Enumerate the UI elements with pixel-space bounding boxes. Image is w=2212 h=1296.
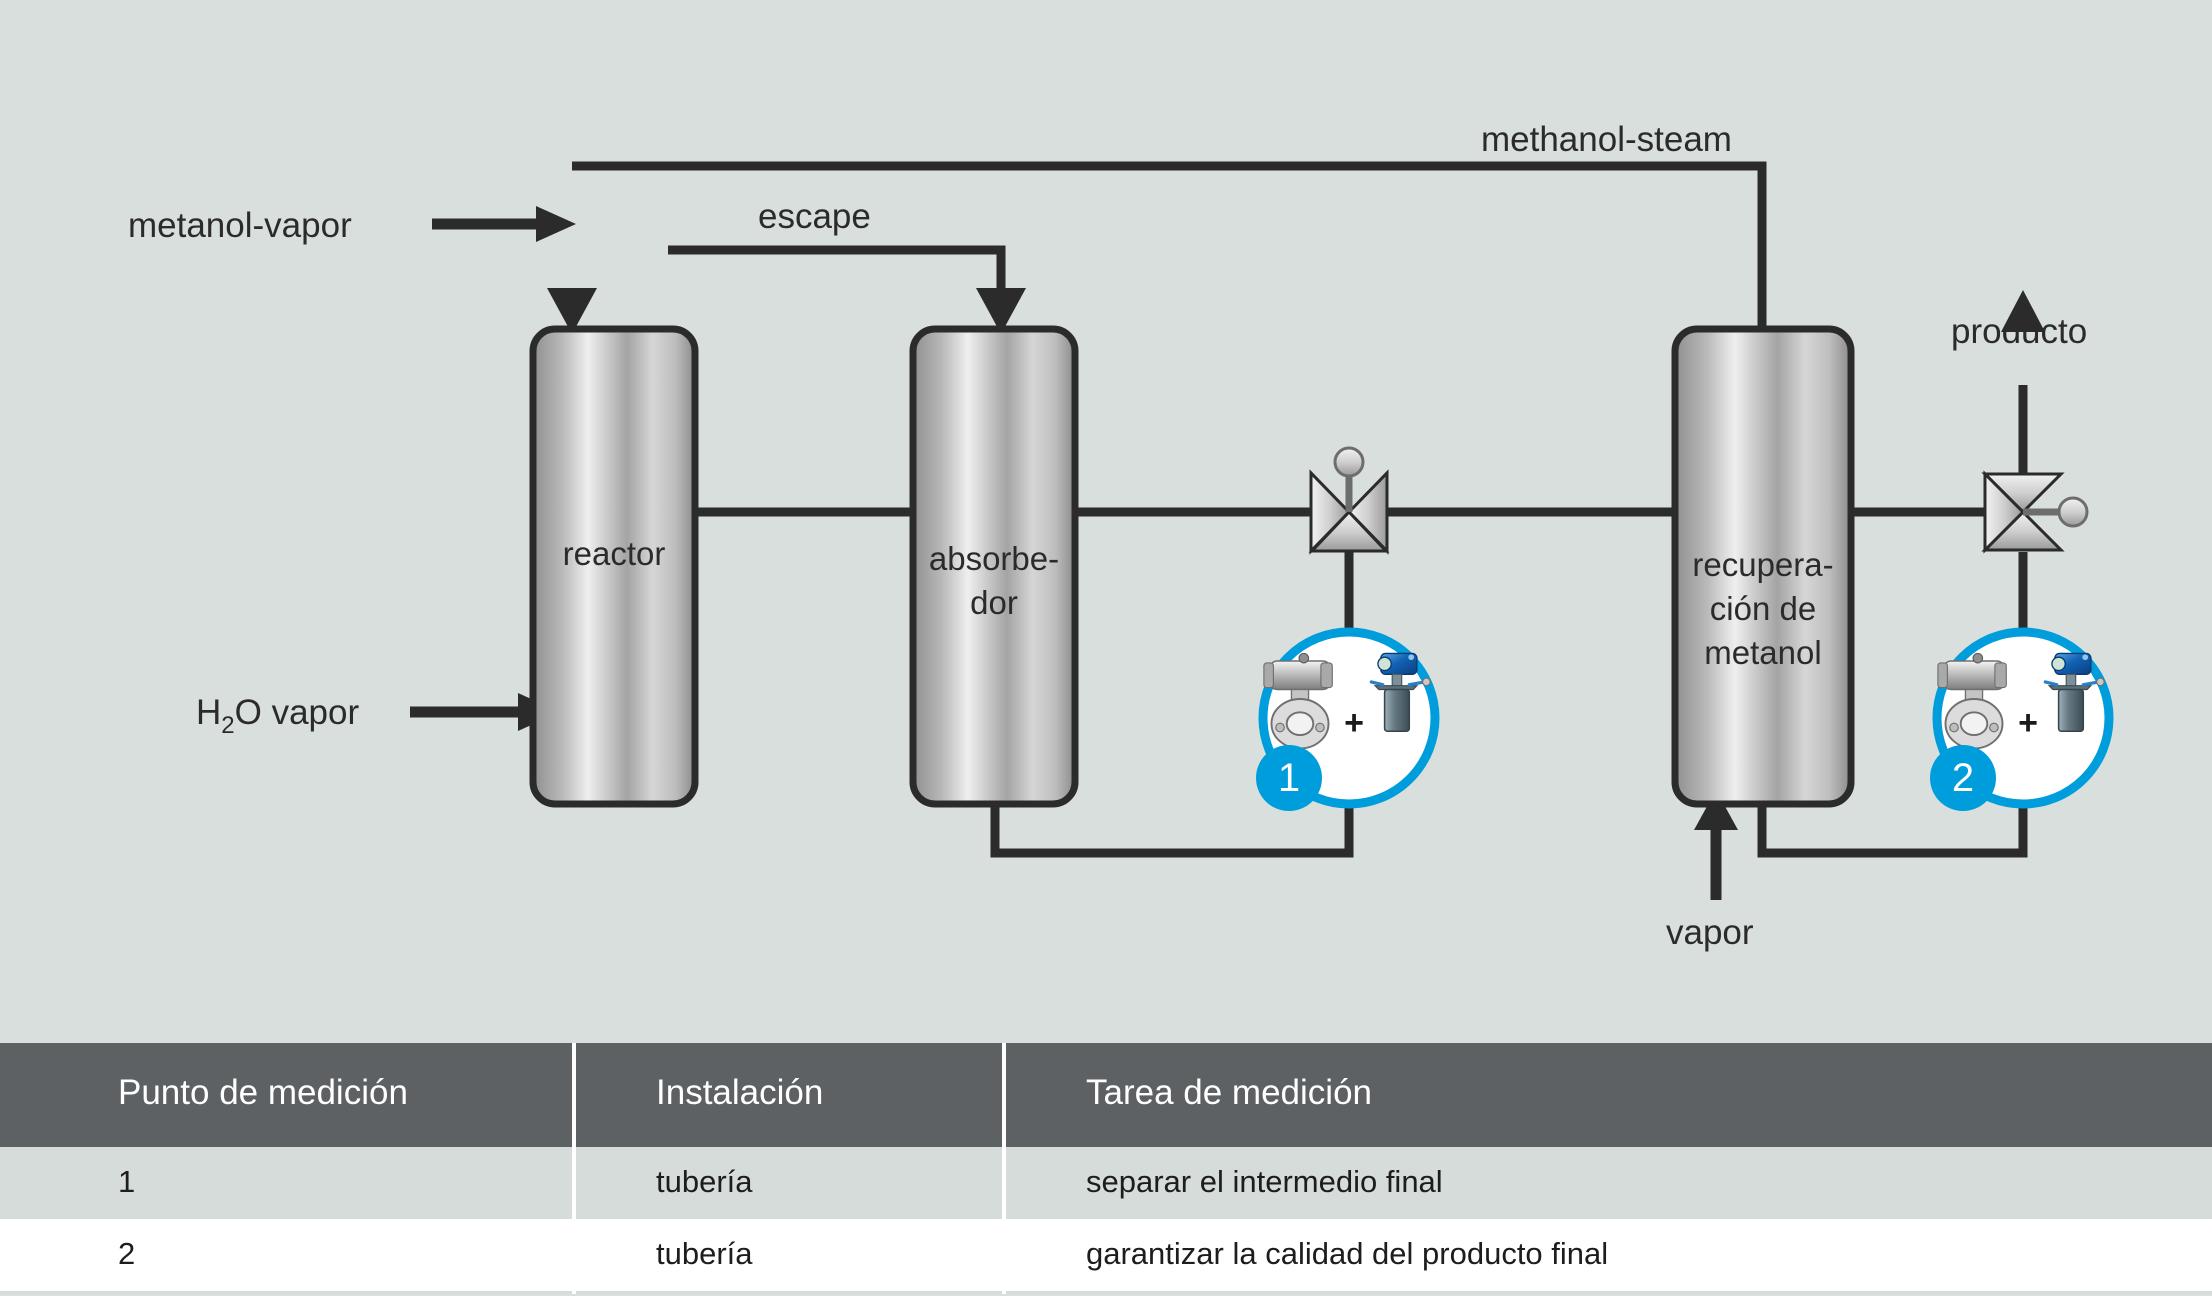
- table-header-punto-de-medicion: Punto de medición: [0, 1043, 574, 1147]
- label-h2o-rest: O vapor: [235, 693, 360, 732]
- cell-punto-2: 2: [0, 1219, 574, 1293]
- table-row: 2 tubería garantizar la calidad del prod…: [0, 1219, 2212, 1293]
- label-escape: escape: [758, 197, 871, 236]
- vessel-label-reactor: reactor: [563, 535, 666, 572]
- label-h2o-h: H: [196, 693, 221, 732]
- table-header-tarea-de-medicion: Tarea de medición: [1004, 1043, 2212, 1147]
- vessel-label-recovery-line2: ción de: [1710, 590, 1816, 627]
- measuring-point-number-1: 1: [1278, 756, 1300, 800]
- measurement-table: Punto de medición Instalación Tarea de m…: [0, 1043, 2212, 1294]
- valve-1[interactable]: [1311, 448, 1387, 551]
- cell-tarea-2: garantizar la calidad del producto final: [1004, 1219, 2212, 1293]
- vessel-label-recovery-line1: recupera-: [1692, 546, 1833, 583]
- vessel-reactor: reactor: [533, 329, 695, 804]
- label-metanol-vapor: metanol-vapor: [128, 206, 352, 245]
- plus-sign-2: +: [2018, 704, 2038, 742]
- measuring-point-number-2: 2: [1952, 756, 1974, 800]
- vessel-label-absorber-line1: absorbe-: [929, 540, 1059, 577]
- pipe-escape: [668, 250, 1001, 330]
- process-flow-diagram: reactor absorbe- dor recupera- ción de m…: [0, 0, 2212, 1296]
- measuring-point-2[interactable]: + 2: [1930, 632, 2109, 811]
- flow-canvas: reactor absorbe- dor recupera- ción de m…: [0, 0, 2212, 1060]
- valve-2[interactable]: [1985, 474, 2087, 550]
- plus-sign-1: +: [1344, 704, 1364, 742]
- label-producto: producto: [1951, 312, 2087, 351]
- table-row: 1 tubería separar el intermedio final: [0, 1147, 2212, 1219]
- label-methanol-steam: methanol-steam: [1481, 120, 1732, 159]
- vessel-label-recovery-line3: metanol: [1704, 634, 1821, 671]
- cell-instalacion-2: tubería: [574, 1219, 1004, 1293]
- vessel-label-absorber-line2: dor: [970, 584, 1018, 621]
- measuring-point-1[interactable]: + 1: [1256, 632, 1435, 811]
- cell-punto-1: 1: [0, 1147, 574, 1219]
- cell-instalacion-1: tubería: [574, 1147, 1004, 1219]
- table-header-row: Punto de medición Instalación Tarea de m…: [0, 1043, 2212, 1147]
- svg-text:H2O vapor: H2O vapor: [196, 693, 359, 739]
- vessel-absorber: absorbe- dor: [913, 329, 1075, 804]
- label-vapor: vapor: [1666, 913, 1754, 952]
- vessel-methanol-recovery: recupera- ción de metanol: [1675, 329, 1851, 804]
- arrow-methanol-vapor: [536, 206, 576, 242]
- label-h2o-subscript: 2: [221, 712, 234, 739]
- cell-tarea-1: separar el intermedio final: [1004, 1147, 2212, 1219]
- label-h2o-vapor: H2O vapor: [196, 693, 359, 739]
- table-header-instalacion: Instalación: [574, 1043, 1004, 1147]
